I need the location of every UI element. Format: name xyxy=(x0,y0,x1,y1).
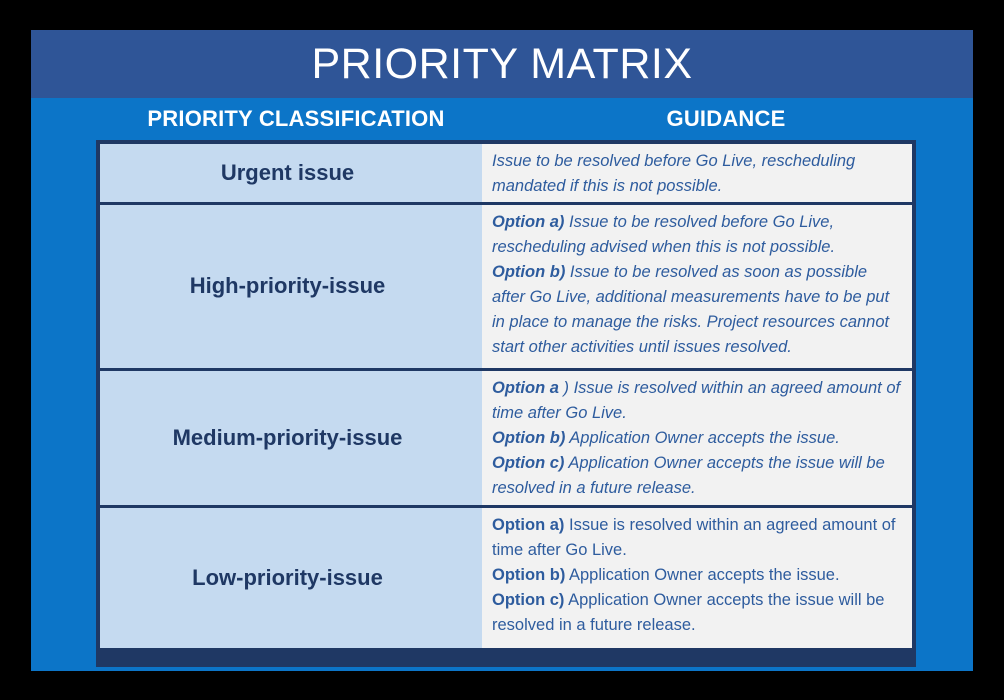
table-row: Medium-priority-issue Option a ) Issue i… xyxy=(100,371,912,505)
guidance-option-prefix: Option b) xyxy=(492,263,565,281)
column-header-classification: PRIORITY CLASSIFICATION xyxy=(96,98,496,140)
guidance-cell: Option a) Issue is resolved within an ag… xyxy=(475,508,912,648)
guidance-line: Option c) Application Owner accepts the … xyxy=(492,451,902,501)
guidance-option-prefix: Option b) xyxy=(492,429,565,447)
guidance-cell: Option a ) Issue is resolved within an a… xyxy=(475,371,912,505)
guidance-line: Option c) Application Owner accepts the … xyxy=(492,588,902,638)
priority-matrix-card: PRIORITY MATRIX PRIORITY CLASSIFICATION … xyxy=(31,30,973,671)
guidance-option-prefix: Option a) xyxy=(492,213,564,231)
priority-label-text: Low-priority-issue xyxy=(192,565,383,591)
priority-label-text: Urgent issue xyxy=(221,160,354,186)
guidance-line: Option a) Issue is resolved within an ag… xyxy=(492,513,902,563)
guidance-option-prefix: Option a xyxy=(492,379,559,397)
column-header-guidance: GUIDANCE xyxy=(506,98,946,140)
page-title: PRIORITY MATRIX xyxy=(312,43,693,86)
guidance-cell: Issue to be resolved before Go Live, res… xyxy=(475,144,912,202)
guidance-option-prefix: Option c) xyxy=(492,591,564,609)
guidance-line: Option b) Application Owner accepts the … xyxy=(492,563,902,588)
table-row: Low-priority-issue Option a) Issue is re… xyxy=(100,508,912,648)
guidance-line: Option a) Issue to be resolved before Go… xyxy=(492,210,902,260)
guidance-option-prefix: Option b) xyxy=(492,566,565,584)
guidance-line: Issue to be resolved before Go Live, res… xyxy=(492,149,902,199)
table-row: High-priority-issue Option a) Issue to b… xyxy=(100,205,912,368)
column-header-strip: PRIORITY CLASSIFICATION GUIDANCE xyxy=(31,98,973,140)
priority-label-text: High-priority-issue xyxy=(190,273,386,299)
priority-label-cell: Low-priority-issue xyxy=(100,508,475,648)
priority-label-cell: Urgent issue xyxy=(100,144,475,202)
table-row: Urgent issue Issue to be resolved before… xyxy=(100,144,912,202)
guidance-option-prefix: Option a) xyxy=(492,516,564,534)
priority-label-cell: High-priority-issue xyxy=(100,205,475,368)
guidance-cell: Option a) Issue to be resolved before Go… xyxy=(475,205,912,368)
priority-label-cell: Medium-priority-issue xyxy=(100,371,475,505)
guidance-option-prefix: Option c) xyxy=(492,454,564,472)
page-frame: PRIORITY MATRIX PRIORITY CLASSIFICATION … xyxy=(0,0,1004,700)
guidance-text: Application Owner accepts the issue. xyxy=(565,429,840,447)
guidance-line: Option a ) Issue is resolved within an a… xyxy=(492,376,902,426)
guidance-text: Application Owner accepts the issue. xyxy=(565,566,839,584)
guidance-line: Option b) Issue to be resolved as soon a… xyxy=(492,260,902,360)
guidance-text: Issue to be resolved before Go Live, res… xyxy=(492,152,855,195)
priority-label-text: Medium-priority-issue xyxy=(173,425,403,451)
priority-matrix-table: Urgent issue Issue to be resolved before… xyxy=(96,140,916,667)
title-bar: PRIORITY MATRIX xyxy=(31,30,973,98)
guidance-line: Option b) Application Owner accepts the … xyxy=(492,426,902,451)
